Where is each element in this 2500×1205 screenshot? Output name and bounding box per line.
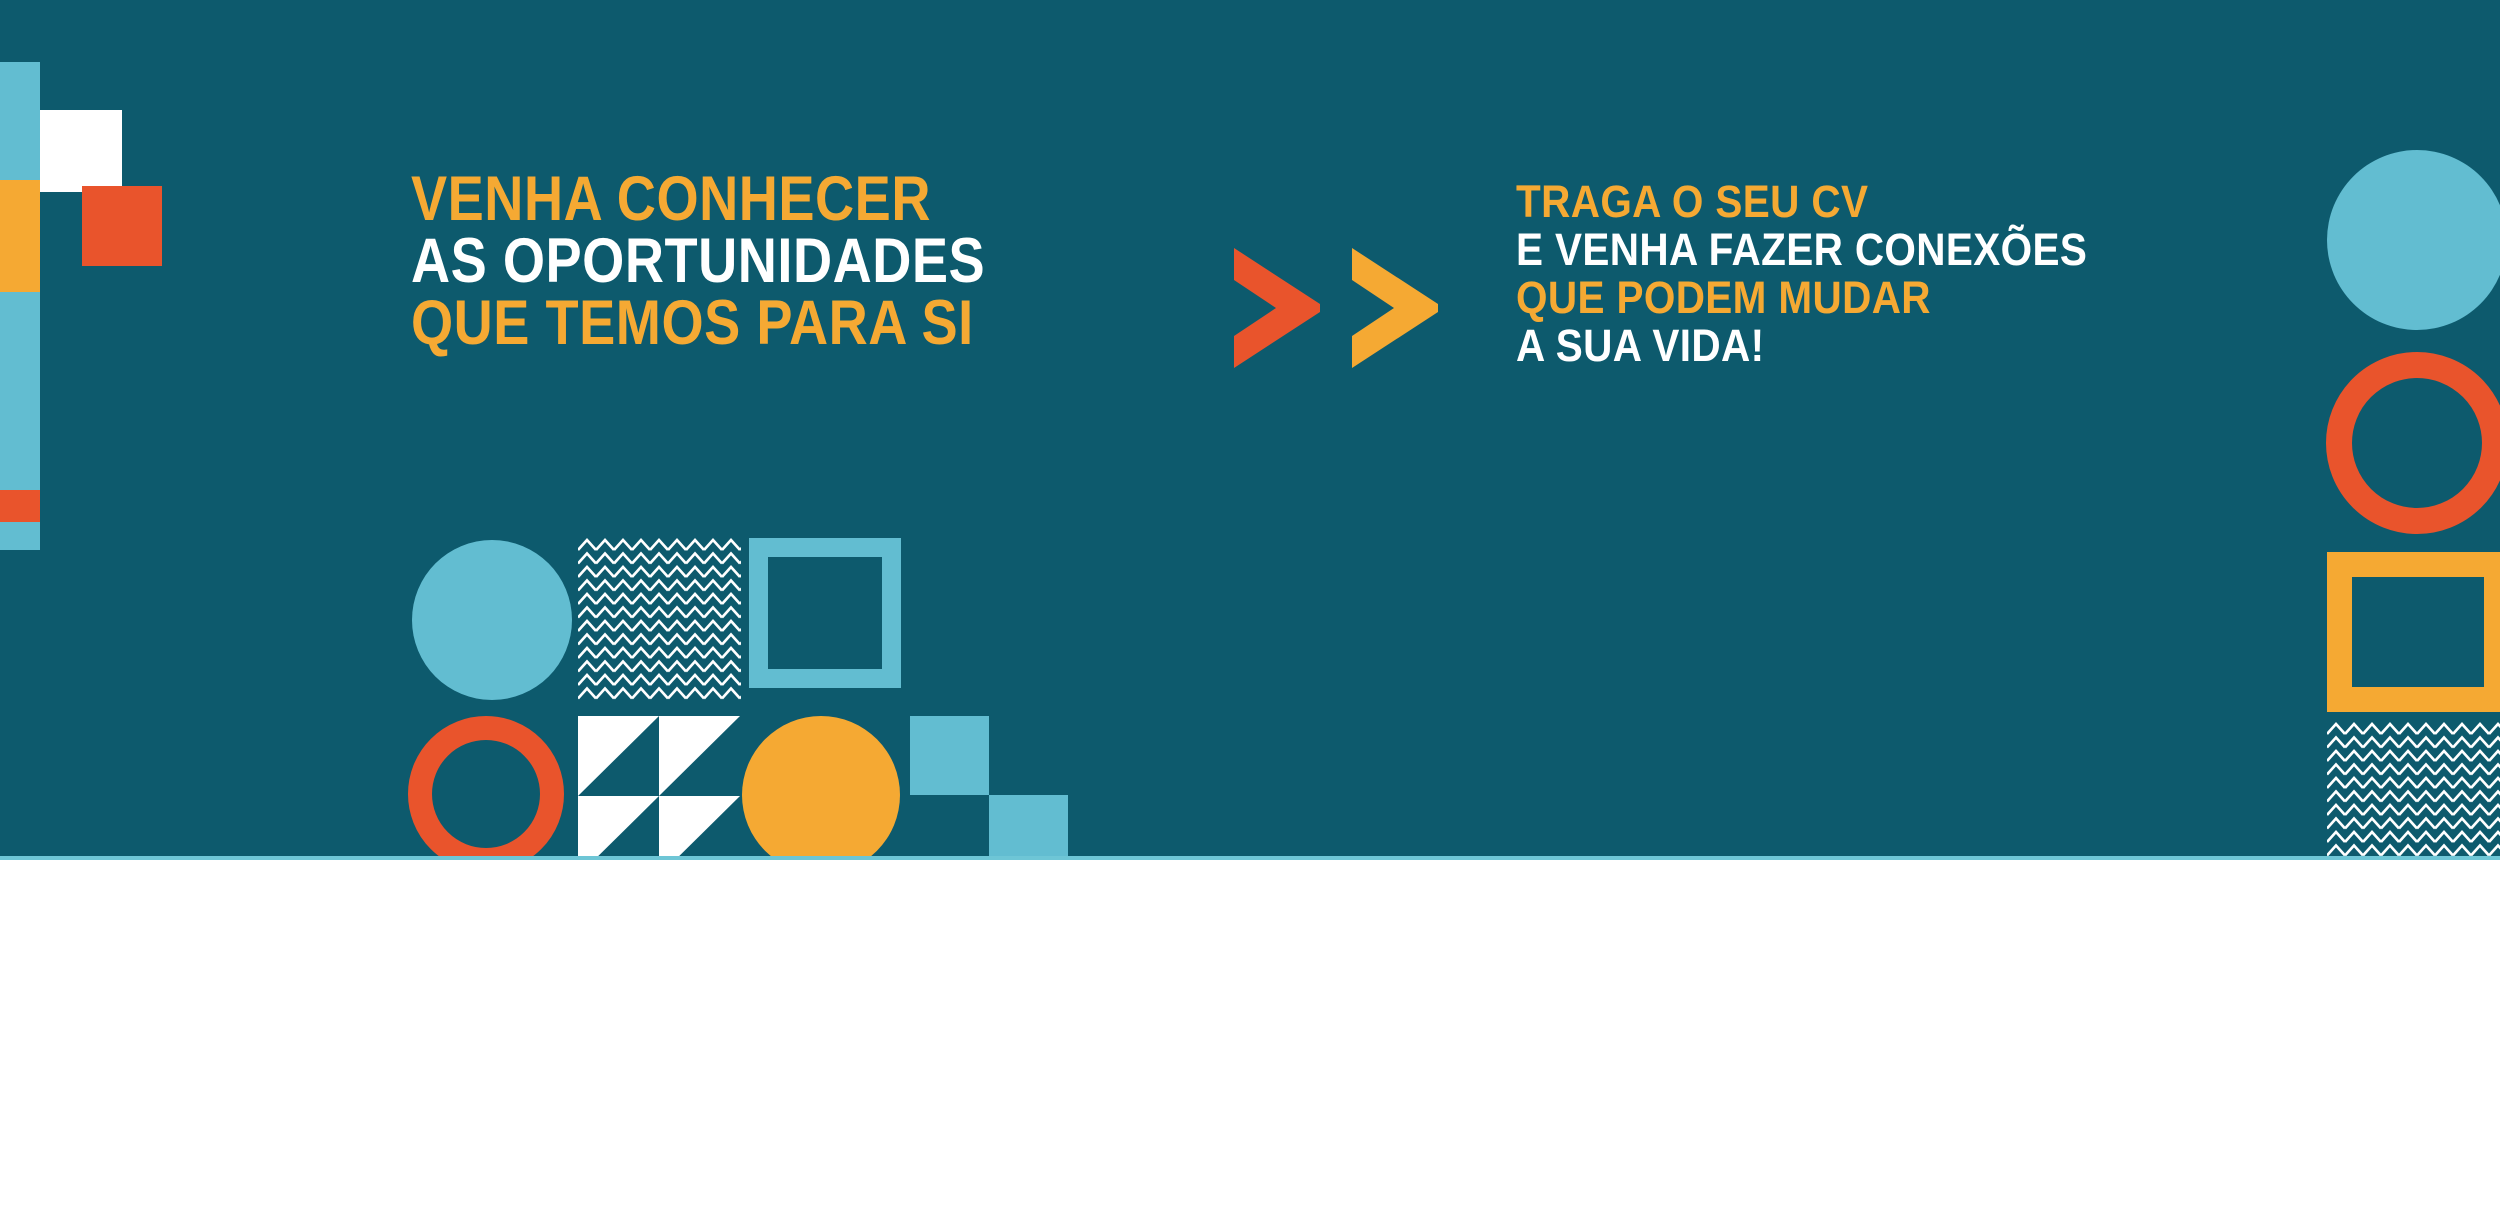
hero-section: VENHA CONHECER AS OPORTUNIDADES QUE TEMO… [0, 0, 2500, 860]
subhead-line-2: E VENHA FAZER CONEXÕES [1516, 226, 2087, 274]
decorative-circle-amber-center [742, 716, 900, 860]
decorative-circle-cyan-center [412, 540, 572, 700]
subhead-line-4: A SUA VIDA! [1516, 322, 2087, 370]
headline-line-1: VENHA CONHECER [411, 168, 985, 230]
strip-segment-red [0, 490, 40, 522]
promo-banner: VENHA CONHECER AS OPORTUNIDADES QUE TEMO… [0, 0, 2500, 1205]
decorative-ring-red-right [2326, 352, 2500, 534]
subhead-line-1: TRAGA O SEU CV [1516, 178, 2087, 226]
headline-line-2: AS OPORTUNIDADES [411, 230, 985, 292]
decorative-square-outline-amber-right [2327, 552, 2500, 712]
strip-segment-cyan-mid [0, 292, 40, 490]
chevron-amber-icon [1346, 248, 1438, 368]
decorative-ring-red-center [408, 716, 564, 860]
decorative-square-cyan-a [910, 716, 989, 795]
strip-segment-cyan-top [0, 62, 40, 180]
left-edge-strip [0, 62, 40, 550]
strip-segment-cyan-bot [0, 522, 40, 550]
decorative-square-outline-cyan [749, 538, 901, 688]
chevron-red-icon [1228, 248, 1320, 368]
headline-line-3: QUE TEMOS PARA SI [411, 292, 985, 354]
subhead-line-3: QUE PODEM MUDAR [1516, 274, 2087, 322]
decorative-circle-cyan-right [2327, 150, 2500, 330]
decorative-triangle-grid [578, 716, 740, 860]
decorative-zigzag-center [578, 538, 741, 700]
decorative-zigzag-right [2327, 722, 2500, 860]
headline-block: VENHA CONHECER AS OPORTUNIDADES QUE TEMO… [411, 168, 1079, 354]
decorative-square-white [40, 110, 122, 192]
partners-section: ENTIDADES PARCEIRAS pepco® Adecco Auchan [0, 860, 2500, 1205]
decorative-square-cyan-b [989, 795, 1068, 860]
decorative-square-red [82, 186, 162, 266]
chevron-group [1228, 248, 1438, 368]
subhead-block: TRAGA O SEU CV E VENHA FAZER CONEXÕES QU… [1516, 178, 2151, 370]
strip-segment-amber [0, 180, 40, 292]
